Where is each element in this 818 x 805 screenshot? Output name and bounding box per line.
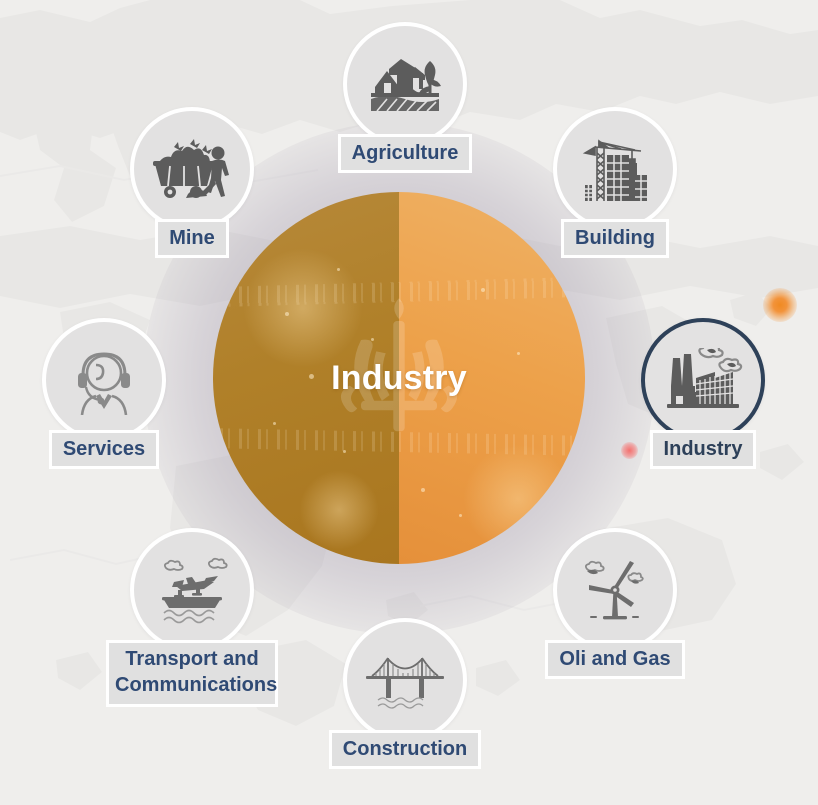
node-transport-label: Transport and Communications xyxy=(106,640,278,707)
factory-smokestack-icon xyxy=(663,348,743,412)
node-services-label: Services xyxy=(49,430,159,469)
node-agriculture-label: Agriculture xyxy=(338,134,473,173)
node-transport-label-line2: Communications xyxy=(115,674,277,696)
node-mine-label: Mine xyxy=(155,219,229,258)
node-transport-disc[interactable] xyxy=(130,528,254,652)
node-services[interactable]: Services xyxy=(42,318,166,469)
suspension-bridge-icon xyxy=(364,650,446,710)
node-oil-gas-label: Oli and Gas xyxy=(545,640,684,679)
node-industry-disc[interactable] xyxy=(641,318,765,442)
farm-field-icon xyxy=(367,53,443,115)
orange-glow-dot xyxy=(763,288,797,322)
node-building[interactable]: Building xyxy=(553,107,677,258)
node-construction-label: Construction xyxy=(329,730,481,769)
node-industry[interactable]: Industry xyxy=(641,318,765,469)
node-construction-disc[interactable] xyxy=(343,618,467,742)
node-building-label: Building xyxy=(561,219,669,258)
headset-operator-icon xyxy=(66,345,142,415)
crane-buildings-icon xyxy=(577,133,653,205)
plane-ship-icon xyxy=(152,556,232,624)
node-industry-label: Industry xyxy=(650,430,757,469)
node-agriculture[interactable]: Agriculture xyxy=(343,22,467,173)
node-construction[interactable]: Construction xyxy=(343,618,467,769)
hub-title: Industry xyxy=(331,359,467,398)
wind-turbine-icon xyxy=(577,555,653,625)
node-building-disc[interactable] xyxy=(553,107,677,231)
node-transport[interactable]: Transport and Communications xyxy=(130,528,254,707)
node-oil-gas-disc[interactable] xyxy=(553,528,677,652)
node-mine[interactable]: Mine xyxy=(130,107,254,258)
red-glow-dot xyxy=(621,442,638,459)
node-transport-label-line1: Transport and xyxy=(125,648,258,670)
hub-industry[interactable]: Industry xyxy=(213,192,585,564)
node-oil-gas[interactable]: Oli and Gas xyxy=(553,528,677,679)
sector-wheel-diagram: Industry xyxy=(0,0,818,805)
node-mine-disc[interactable] xyxy=(130,107,254,231)
mine-cart-worker-icon xyxy=(152,136,232,202)
node-services-disc[interactable] xyxy=(42,318,166,442)
node-agriculture-disc[interactable] xyxy=(343,22,467,146)
